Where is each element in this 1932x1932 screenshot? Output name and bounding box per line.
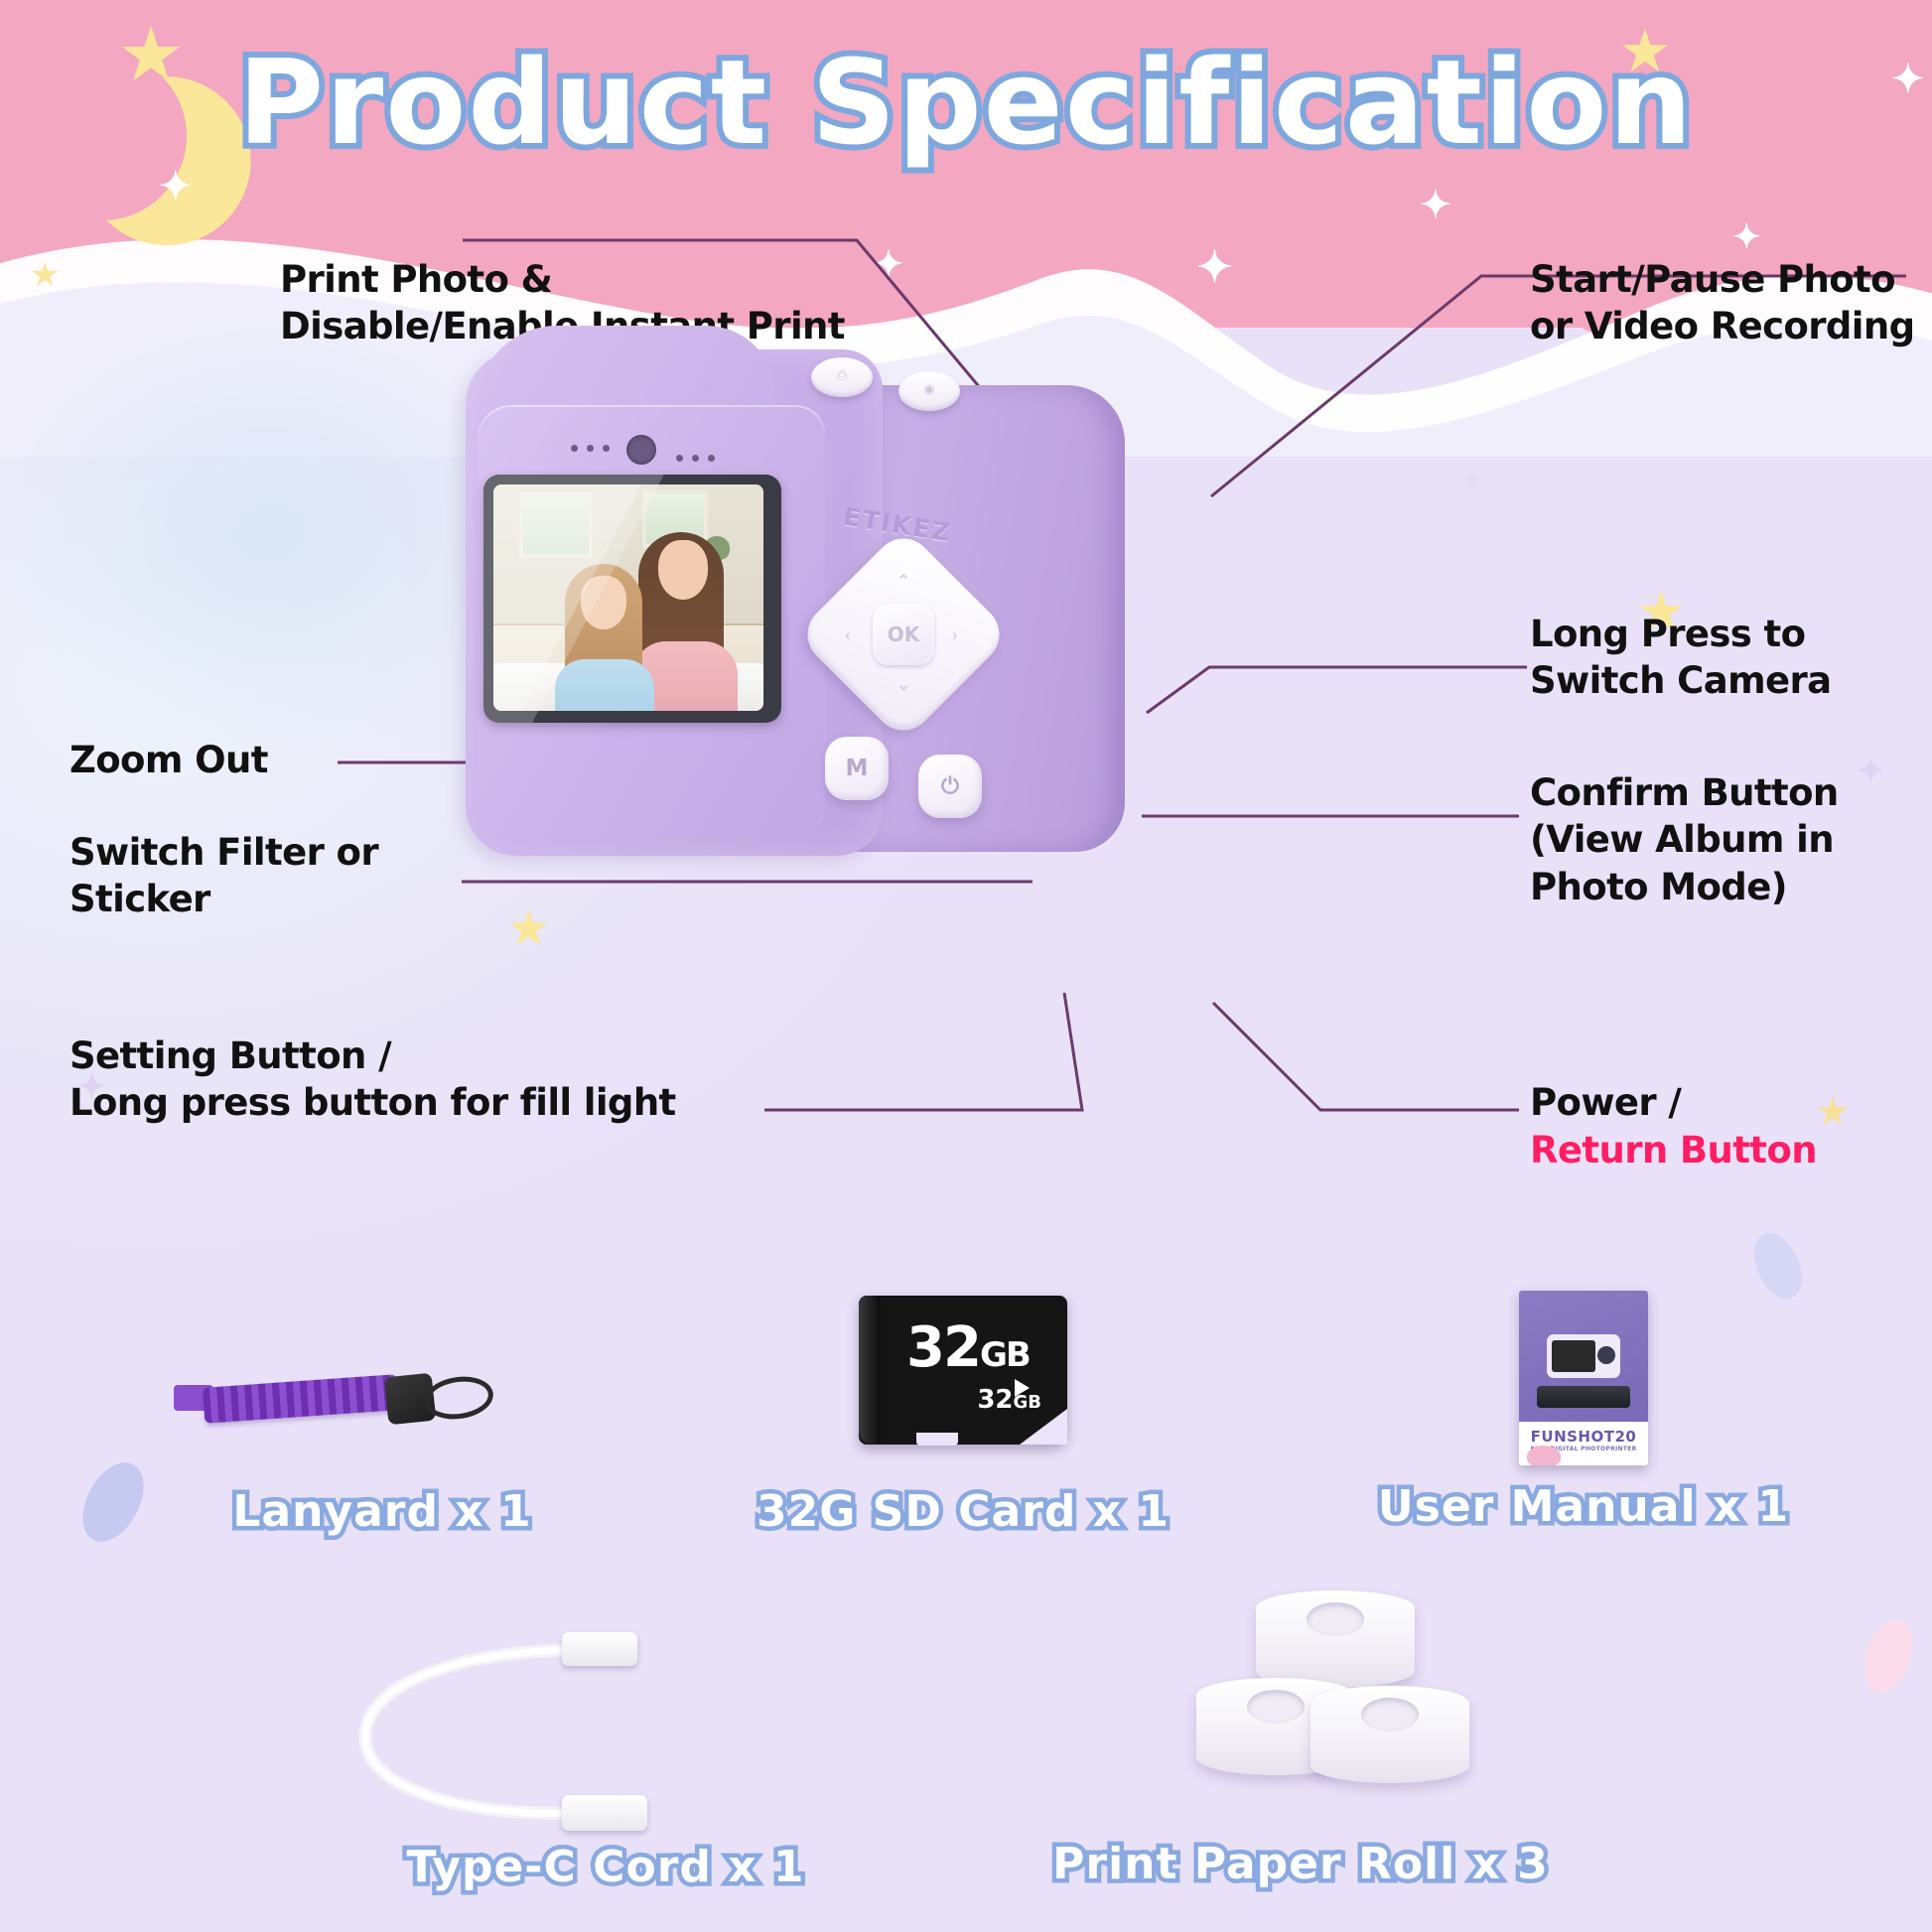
- sd-capacity-number: 32: [906, 1315, 980, 1380]
- print-button-icon: ⎙: [811, 367, 873, 383]
- ok-button[interactable]: OK: [873, 604, 934, 665]
- manual-camera-illustration: [1547, 1334, 1620, 1378]
- screen-bezel: [483, 475, 781, 723]
- sd-capacity-unit: GB: [980, 1335, 1030, 1375]
- callout-power-label: Power /: [1530, 1081, 1681, 1124]
- callout-long-press: Long Press to Switch Camera: [1530, 611, 1832, 705]
- accessory-type-c-cord: Type-C Cord x 1: [328, 1608, 884, 1896]
- callout-confirm-button: Confirm Button (View Album in Photo Mode…: [1530, 769, 1839, 910]
- mode-button[interactable]: M: [825, 737, 889, 800]
- usb-a-plug: [562, 1795, 647, 1831]
- manual-logo-sticker: [1527, 1446, 1561, 1465]
- callout-power-return: Power / Return Button: [1530, 1033, 1817, 1220]
- right-arrow-icon[interactable]: ›: [952, 625, 958, 645]
- manual-title: FUNSHOT20: [1519, 1428, 1648, 1446]
- manual-cover-art: [1519, 1291, 1648, 1422]
- callout-zoom-out: Zoom Out: [69, 737, 268, 783]
- lanyard-strap: [203, 1374, 399, 1424]
- callout-return-button-label: Return Button: [1530, 1127, 1817, 1173]
- power-icon: ⏻: [941, 773, 959, 799]
- shutter-button-icon: ◉: [898, 381, 960, 397]
- paper-roll: [1256, 1590, 1415, 1688]
- sd-card-capacity-small: 32GB: [977, 1385, 1041, 1415]
- accessory-label-sd-card: 32G SD Card x 1: [705, 1486, 1221, 1537]
- callout-start-pause: Start/Pause Photo or Video Recording: [1530, 256, 1914, 350]
- paper-roll: [1311, 1686, 1469, 1783]
- accessory-sd-card: 32GB 32GB 32G SD Card x 1: [705, 1296, 1221, 1554]
- accessory-label-paper-roll: Print Paper Roll x 3: [1013, 1839, 1588, 1889]
- paper-roll-core: [1247, 1690, 1305, 1724]
- paper-roll-core: [1307, 1602, 1364, 1636]
- sd-card-capacity: 32GB: [906, 1315, 1030, 1380]
- up-arrow-icon[interactable]: ⌃: [897, 572, 910, 592]
- front-camera-lens: [626, 435, 656, 465]
- accessory-label-user-manual: User Manual x 1: [1325, 1481, 1842, 1532]
- mic-dots-left: [571, 445, 610, 452]
- dpad-control[interactable]: ⌃ › ⌄ ‹ OK: [827, 558, 980, 711]
- accessory-lanyard: Lanyard x 1: [174, 1355, 591, 1554]
- photo-glare: [493, 484, 763, 711]
- left-arrow-icon[interactable]: ‹: [845, 625, 851, 645]
- user-manual-booklet: FUNSHOT20 KIDS DIGITAL PHOTOPRINTER: [1519, 1291, 1648, 1465]
- power-button[interactable]: ⏻: [918, 755, 982, 818]
- down-arrow-icon[interactable]: ⌄: [897, 675, 910, 695]
- accessory-user-manual: FUNSHOT20 KIDS DIGITAL PHOTOPRINTER User…: [1325, 1291, 1842, 1549]
- accessory-paper-rolls: Print Paper Roll x 3: [1013, 1579, 1588, 1896]
- type-c-plug: [562, 1632, 637, 1666]
- shutter-button[interactable]: ◉: [898, 371, 960, 411]
- callout-switch-filter: Switch Filter or Sticker: [69, 829, 378, 923]
- paper-roll-core: [1361, 1698, 1419, 1731]
- mic-dots-right: [676, 455, 715, 462]
- screen-preview-image: [493, 484, 763, 711]
- sd-capacity-small-number: 32: [977, 1385, 1013, 1415]
- accessory-label-lanyard: Lanyard x 1: [174, 1486, 591, 1537]
- print-button[interactable]: ⎙: [811, 357, 873, 397]
- camera-illustration: ⎙ ◉ ETIKEZ ⌃: [452, 320, 1147, 876]
- sd-card-body: 32GB 32GB: [859, 1296, 1067, 1445]
- accessory-label-type-c-cord: Type-C Cord x 1: [328, 1842, 884, 1892]
- sd-capacity-small-unit: GB: [1014, 1392, 1042, 1413]
- callout-setting-button: Setting Button / Long press button for f…: [69, 1033, 676, 1127]
- manual-printer-illustration: [1537, 1386, 1630, 1408]
